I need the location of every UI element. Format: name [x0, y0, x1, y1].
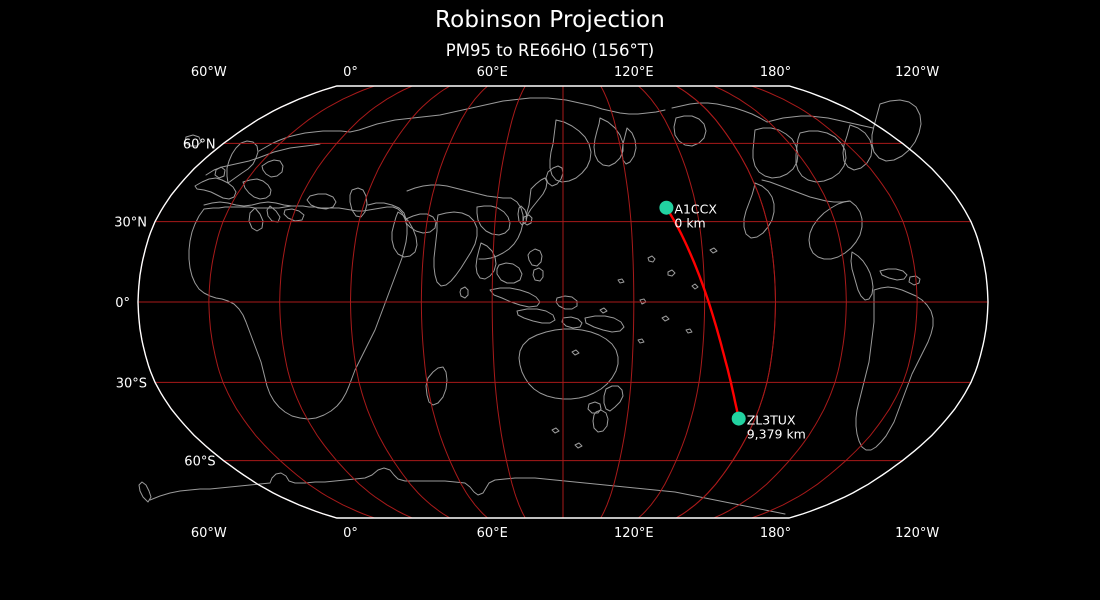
marker-dot-start[interactable] [659, 201, 673, 215]
great-circle-path[interactable] [666, 208, 738, 419]
marker-end[interactable]: ZL3TUX 9,379 km [732, 412, 806, 442]
lon-label-bottom-5: 60°W [191, 526, 227, 541]
graticule-layer [138, 86, 988, 518]
lat-label-30s: 30°S [116, 376, 147, 391]
lon-label-bottom-1: 60°E [477, 526, 508, 541]
latitude-labels: 60°N 30°N 0° 30°S 60°S [114, 137, 215, 469]
lat-label-0: 0° [115, 296, 130, 311]
lon-label-top-1: 60°E [477, 65, 508, 80]
marker-label-end-distance: 9,379 km [747, 427, 806, 442]
lon-label-bottom-2: 120°E [614, 526, 654, 541]
lon-label-top-3: 180° [760, 65, 791, 80]
longitude-labels-bottom: 0° 60°E 120°E 180° 120°W 60°W [191, 526, 940, 541]
lon-label-top-2: 120°E [614, 65, 654, 80]
lon-label-bottom-4: 120°W [895, 526, 939, 541]
lat-label-60s: 60°S [184, 455, 215, 470]
map-viewer: Robinson Projection PM95 to RE66HO (156°… [0, 0, 1100, 600]
marker-dot-end[interactable] [732, 412, 746, 426]
lon-label-top-0: 0° [343, 65, 358, 80]
lon-label-top-5: 60°W [191, 65, 227, 80]
marker-label-end-callsign: ZL3TUX [747, 413, 796, 428]
lon-label-bottom-0: 0° [343, 526, 358, 541]
robinson-projection-map[interactable]: 0° 60°E 120°E 180° 120°W 60°W 0° 60°E 12… [0, 0, 1100, 600]
lat-label-30n: 30°N [114, 216, 147, 231]
lat-label-60n: 60°N [183, 137, 216, 152]
coastlines-layer [139, 98, 933, 514]
marker-label-start-distance: 0 km [674, 216, 705, 231]
longitude-labels-top: 0° 60°E 120°E 180° 120°W 60°W [191, 65, 940, 80]
marker-label-start-callsign: A1CCX [674, 202, 717, 217]
lon-label-bottom-3: 180° [760, 526, 791, 541]
marker-start[interactable]: A1CCX 0 km [659, 201, 717, 231]
lon-label-top-4: 120°W [895, 65, 939, 80]
